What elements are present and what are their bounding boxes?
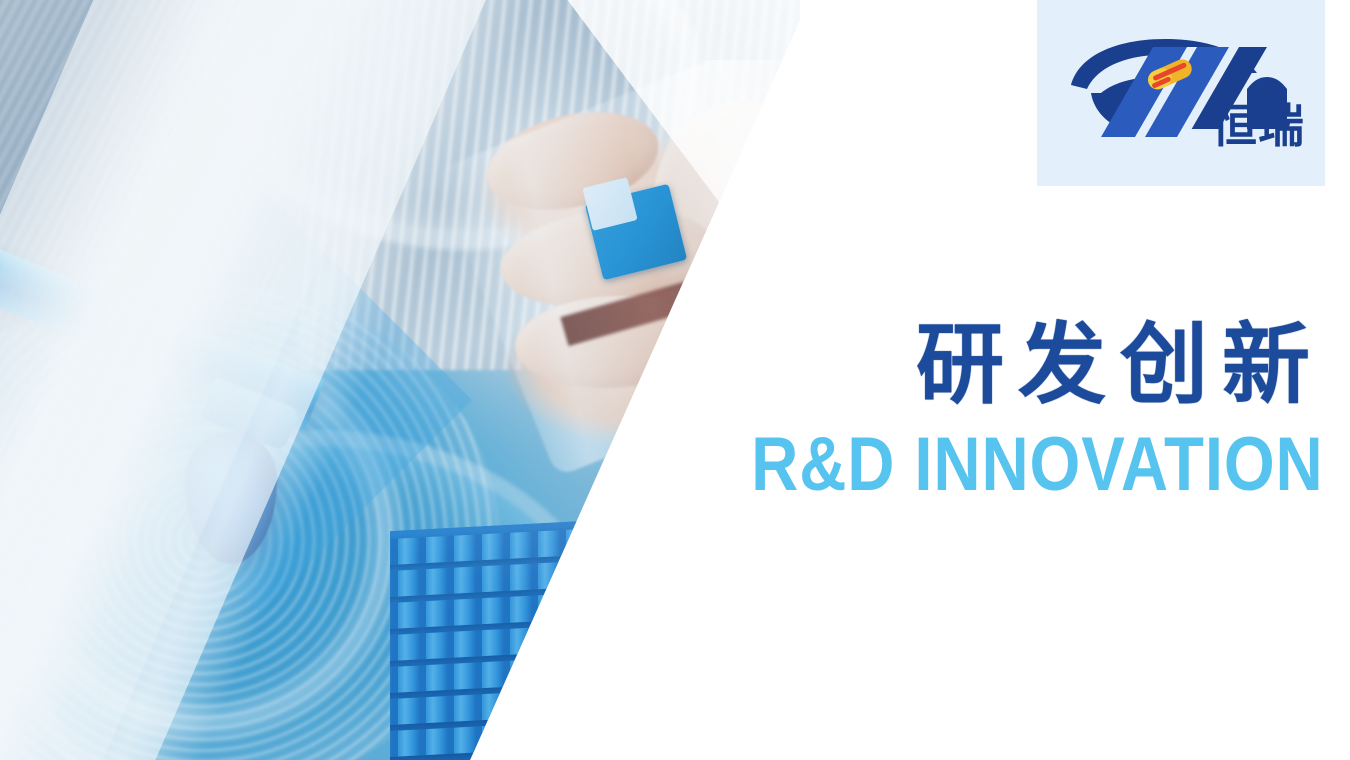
- title-english: R&D INNOVATION: [752, 427, 1324, 503]
- company-name-cn: 恒瑞: [1211, 103, 1305, 149]
- title-chinese: 研发创新: [658, 318, 1324, 411]
- headline-block: 研发创新 R&D INNOVATION: [658, 318, 1324, 503]
- rd-innovation-banner: 恒瑞 研发创新 R&D INNOVATION: [0, 0, 1350, 760]
- brand-logo-panel: 恒瑞: [1037, 0, 1325, 186]
- hengrui-logo: 恒瑞: [1061, 33, 1301, 153]
